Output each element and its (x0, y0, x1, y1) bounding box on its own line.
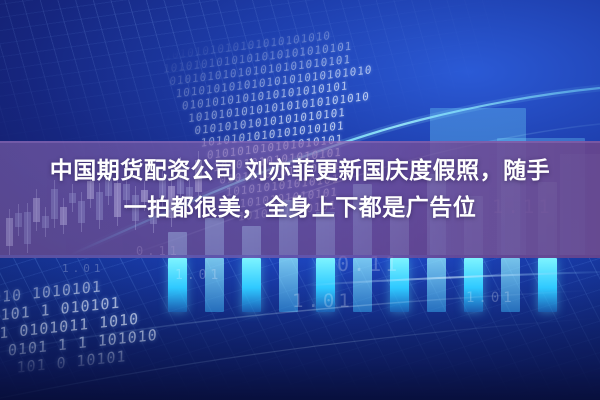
decimal-label: 1.01 (466, 290, 516, 306)
headline-line-2: 一拍都很美，全身上下都是广告位 (0, 189, 600, 226)
headline-text: 中国期货配资公司 刘亦菲更新国庆度假照，随手 一拍都很美，全身上下都是广告位 (0, 152, 600, 226)
decimal-label: 1.01 (62, 262, 105, 275)
decimal-label: 1.01 (292, 290, 354, 312)
headline-line-1: 中国期货配资公司 刘亦菲更新国庆度假照，随手 (0, 152, 600, 189)
headline-band-edge (0, 141, 600, 143)
decimal-label: 1.01 (175, 268, 222, 283)
banner-image: 0101010101010101010101010101010101010101… (0, 0, 600, 400)
